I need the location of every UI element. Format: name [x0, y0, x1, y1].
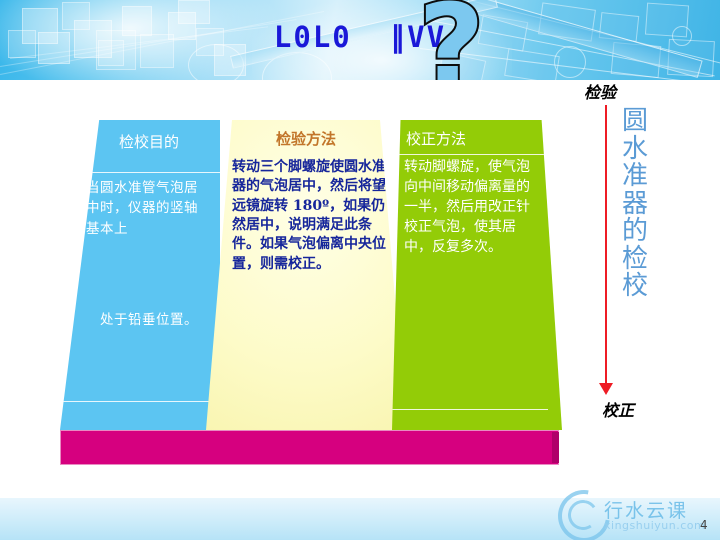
panel-adjustment-title: 校正方法	[406, 128, 466, 149]
panel-purpose-title: 检校目的	[74, 132, 224, 152]
panel-adjustment-method[interactable]: 校正方法 转动脚螺旋，使气泡向中间移动偏离量的一半，然后用改正针校正气泡，使其居…	[392, 120, 562, 430]
vertical-heading: 圆水准器的检校	[618, 108, 652, 301]
panel-divider-bottom	[62, 401, 220, 402]
header-banner: L0L0 ∥VV ?	[0, 0, 720, 80]
watermark-url: xingshuiyun.com	[604, 519, 705, 532]
panel-divider	[76, 172, 220, 173]
base-plinth	[60, 430, 559, 465]
panel-divider-bottom	[392, 409, 548, 410]
panel-inspection-title: 检验方法	[206, 128, 406, 149]
diagram-stage: 检校目的 当圆水准管气泡居中时，仪器的竖轴基本上 处于铅垂位置。 检验方法 转动…	[0, 80, 720, 540]
question-mark-icon: ?	[418, 0, 485, 80]
panel-inspection-body: 转动三个脚螺旋使圆水准器的气泡居中，然后将望远镜旋转 180º，如果仍然居中，说…	[232, 158, 390, 274]
flow-arrow-line	[605, 105, 607, 387]
panel-divider	[399, 154, 552, 155]
panel-purpose-body: 当圆水准管气泡居中时，仪器的竖轴基本上	[86, 178, 210, 239]
panel-purpose-body-cont: 处于铅垂位置。	[86, 310, 210, 330]
watermark: 行水云课 xingshuiyun.com	[556, 486, 720, 540]
flow-arrow-head-icon	[599, 383, 613, 395]
flow-label-inspection: 检验	[584, 79, 616, 103]
slide-title: L0L0 ∥VV	[0, 20, 720, 54]
flow-label-adjustment: 校正	[602, 397, 634, 421]
panel-inspection-method[interactable]: 检验方法 转动三个脚螺旋使圆水准器的气泡居中，然后将望远镜旋转 180º，如果仍…	[206, 120, 406, 430]
panel-purpose[interactable]: 检校目的 当圆水准管气泡居中时，仪器的竖轴基本上 处于铅垂位置。	[60, 120, 220, 430]
page-number: 4	[700, 518, 708, 532]
panel-adjustment-body: 转动脚螺旋，使气泡向中间移动偏离量的一半，然后用改正针校正气泡，使其居中，反复多…	[404, 158, 540, 257]
flow-arrow-column: 检验 校正 圆水准器的检校	[560, 80, 720, 540]
base-plinth-edge	[552, 432, 559, 463]
slide-canvas: L0L0 ∥VV ? 检校目的 当圆水准管气泡居中时，仪器的竖轴基本上 处于铅垂…	[0, 0, 720, 540]
